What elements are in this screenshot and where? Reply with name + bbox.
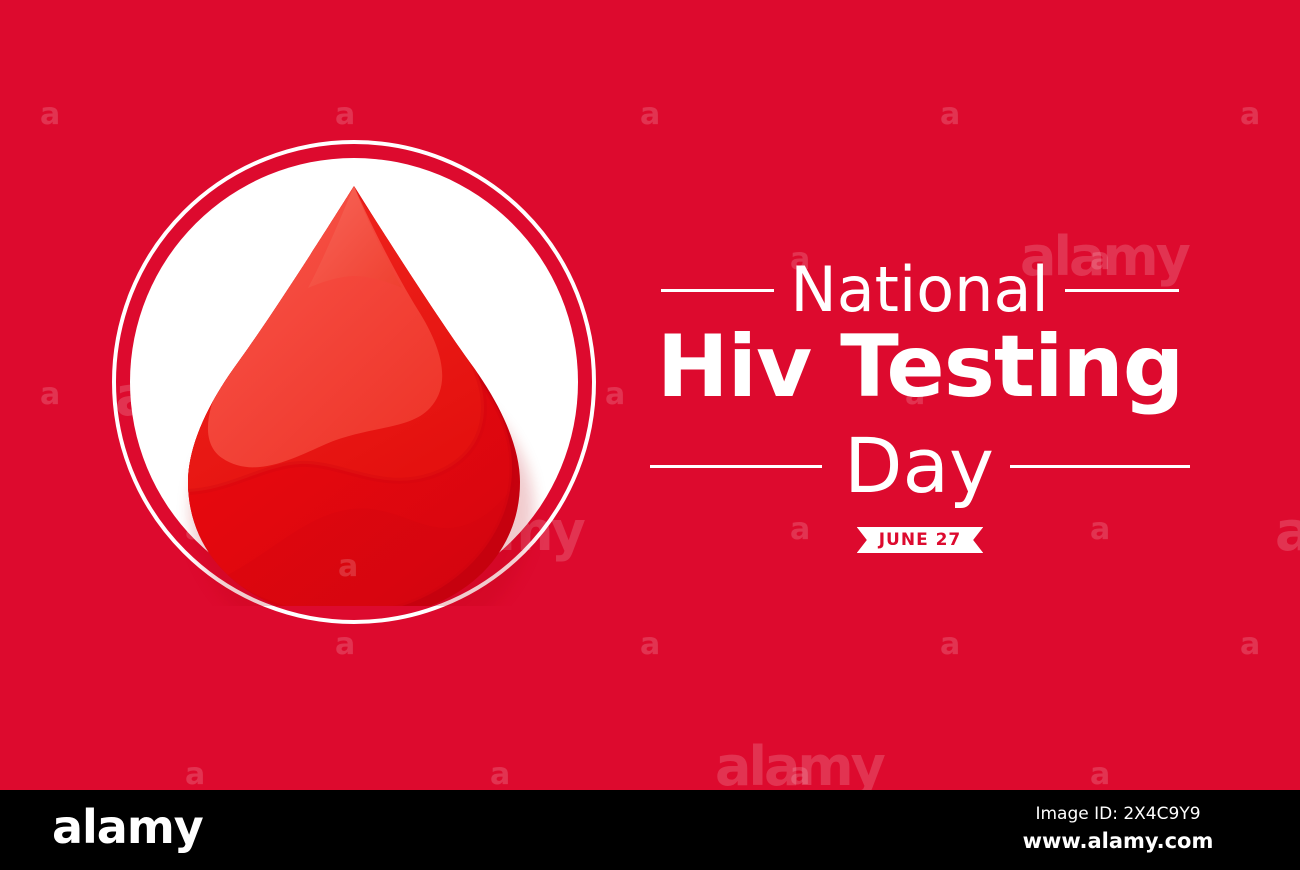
watermark-glyph: a [605,380,625,410]
blood-drop-emblem: a [112,140,596,624]
watermark-glyph: a [335,630,355,660]
date-badge: JUNE 27 [857,527,984,553]
rule-right-day [1010,465,1190,468]
watermark-glyph: a [640,630,660,660]
watermark-glyph: a [40,380,60,410]
rule-right-national [1065,289,1179,292]
rule-left-national [661,289,774,292]
headline-line-day: Day [844,424,994,508]
watermark-glyph: a [940,100,960,130]
watermark-glyph: a [940,630,960,660]
image-id-label: Image ID: 2X4C9Y9 [958,802,1278,826]
headline-line-day-row: Day [640,423,1200,509]
watermark-glyph: a [1090,760,1110,790]
date-ribbon-row: JUNE 27 [640,527,1200,553]
watermark-glyph: a [1240,100,1260,130]
watermark-glyph: a [335,100,355,130]
watermark-glyph: a [640,100,660,130]
blood-drop-icon: a [130,158,578,606]
watermark-glyph: a [40,100,60,130]
alamy-url-label: www.alamy.com [958,827,1278,855]
watermark-glyph-on-drop: a [338,549,358,584]
footer-right-group: Image ID: 2X4C9Y9 www.alamy.com [958,802,1278,855]
headline-line-national: National [790,257,1048,323]
watermark-word: alamy [1275,505,1300,559]
watermark-glyph: a [790,760,810,790]
headline-block: National Hiv Testing Day JUNE 27 [640,255,1200,575]
alamy-logo: alamy [52,800,203,854]
headline-line-hiv-testing: Hiv Testing [657,317,1184,417]
poster-canvas: aaaaaaaaaaaaaaaaaaaaaaaa alamyalamyalamy… [0,0,1300,790]
watermark-glyph: a [1240,630,1260,660]
watermark-word: alamy [715,740,883,790]
watermark-glyph: a [185,760,205,790]
alamy-footer-bar: alamy Image ID: 2X4C9Y9 www.alamy.com [0,790,1300,870]
rule-left-day [650,465,822,468]
watermark-glyph: a [490,760,510,790]
headline-line-hiv-row: Hiv Testing [640,315,1200,419]
